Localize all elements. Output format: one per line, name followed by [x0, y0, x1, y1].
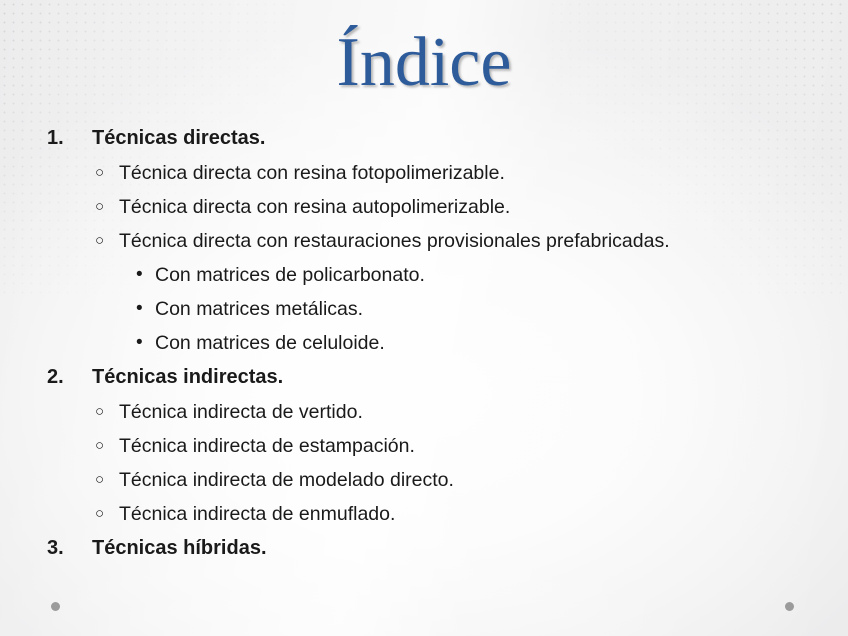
list-item: ○Técnica directa con resina autopolimeri… [0, 190, 848, 224]
list-item-label: Técnica indirecta de estampación. [119, 429, 415, 463]
list-item-label: Técnica indirecta de vertido. [119, 395, 363, 429]
list-bullet-marker: • [136, 326, 143, 360]
list-bullet-marker: • [136, 292, 143, 326]
list-bullet-marker: ○ [95, 156, 104, 190]
list-bullet-marker: • [136, 258, 143, 292]
list-item-label: Técnica indirecta de enmuflado. [119, 497, 395, 531]
list-item-label: Técnica directa con resina fotopolimeriz… [119, 156, 505, 190]
list-bullet-marker: ○ [95, 463, 104, 497]
list-bullet-marker: ○ [95, 190, 104, 224]
footer-decoration-dot-left [51, 602, 60, 611]
slide-content-list: 1.Técnicas directas.○Técnica directa con… [0, 121, 848, 566]
list-item: 1.Técnicas directas. [0, 121, 848, 156]
list-item-label: Técnicas híbridas. [92, 531, 267, 565]
list-item: •Con matrices de celuloide. [0, 326, 848, 360]
list-bullet-marker: ○ [95, 224, 104, 258]
list-item-label: Con matrices metálicas. [155, 292, 363, 326]
presentation-slide: Índice 1.Técnicas directas.○Técnica dire… [0, 0, 848, 636]
list-item: ○Técnica directa con resina fotopolimeri… [0, 156, 848, 190]
list-bullet-marker: ○ [95, 395, 104, 429]
list-item-label: Con matrices de celuloide. [155, 326, 385, 360]
list-item: 2.Técnicas indirectas. [0, 360, 848, 395]
list-item: ○Técnica indirecta de estampación. [0, 429, 848, 463]
list-item-label: Técnica directa con restauraciones provi… [119, 224, 670, 258]
list-item-label: Técnica directa con resina autopolimeriz… [119, 190, 510, 224]
footer-decoration-dot-right [785, 602, 794, 611]
list-bullet-marker: ○ [95, 497, 104, 531]
slide-title: Índice [0, 28, 848, 98]
list-item: ○Técnica directa con restauraciones prov… [0, 224, 848, 258]
list-item: ○Técnica indirecta de modelado directo. [0, 463, 848, 497]
list-number-marker: 1. [47, 121, 64, 155]
list-item: ○Técnica indirecta de vertido. [0, 395, 848, 429]
list-item: 3.Técnicas híbridas. [0, 531, 848, 566]
list-number-marker: 2. [47, 360, 64, 394]
list-item-label: Técnicas directas. [92, 121, 265, 155]
list-item: ○Técnica indirecta de enmuflado. [0, 497, 848, 531]
list-item-label: Técnicas indirectas. [92, 360, 283, 394]
list-number-marker: 3. [47, 531, 64, 565]
list-item-label: Técnica indirecta de modelado directo. [119, 463, 454, 497]
list-item-label: Con matrices de policarbonato. [155, 258, 425, 292]
list-item: •Con matrices metálicas. [0, 292, 848, 326]
list-item: •Con matrices de policarbonato. [0, 258, 848, 292]
list-bullet-marker: ○ [95, 429, 104, 463]
